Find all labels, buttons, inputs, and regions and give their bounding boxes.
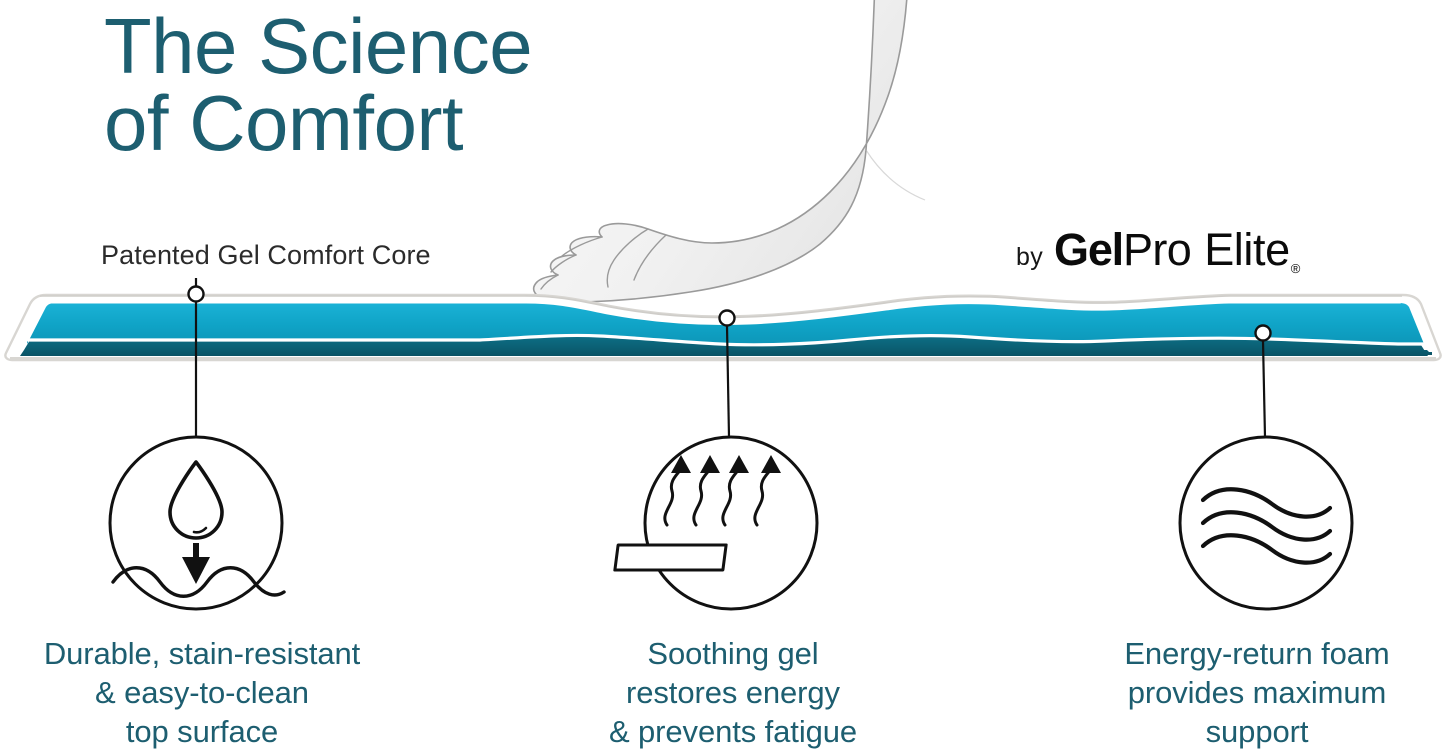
foot-illustration bbox=[534, 0, 925, 302]
mat-cross-section bbox=[5, 295, 1440, 360]
feature-caption-3: Energy-return foam provides maximum supp… bbox=[1068, 634, 1445, 749]
infographic-canvas: The Science of Comfort by Gel Pro Elite … bbox=[0, 0, 1445, 749]
feature-caption-1: Durable, stain-resistant & easy-to-clean… bbox=[0, 634, 404, 749]
feature-caption-2: Soothing gel restores energy & prevents … bbox=[566, 634, 900, 749]
feature-icon-circle-3 bbox=[1180, 437, 1352, 609]
feature-icon-circle-1 bbox=[110, 437, 284, 609]
feature-icon-circle-2 bbox=[612, 437, 817, 609]
